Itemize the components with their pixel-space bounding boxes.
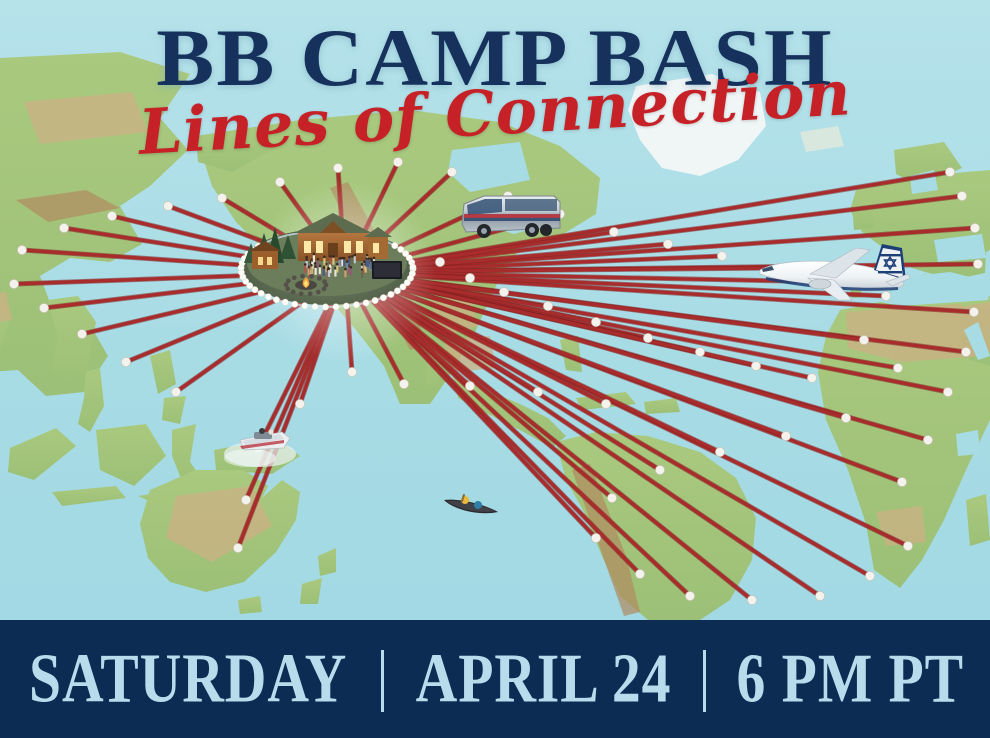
- connection-endpoint: [865, 571, 874, 580]
- connection-endpoint: [903, 541, 912, 550]
- seated-camper: [316, 290, 321, 295]
- connection-endpoint: [607, 493, 616, 502]
- island-pearl: [282, 299, 288, 305]
- connection-endpoint: [945, 167, 954, 176]
- coach-bus: [458, 190, 566, 244]
- connection-endpoint: [399, 379, 408, 388]
- connection-endpoint: [217, 193, 226, 202]
- connection-endpoint: [591, 533, 600, 542]
- banner-separator-2: [703, 650, 706, 712]
- seated-camper: [322, 279, 327, 284]
- connection-endpoint: [635, 569, 644, 578]
- connection-endpoint: [970, 223, 979, 232]
- connection-endpoint: [17, 245, 26, 254]
- camper: [323, 266, 326, 276]
- camper: [365, 257, 368, 267]
- connection-endpoint: [275, 177, 284, 186]
- connection-endpoint: [499, 287, 508, 296]
- event-details-inner: SATURDAY APRIL 24 6 PM PT: [0, 648, 990, 710]
- connection-endpoint: [393, 157, 402, 166]
- connection-endpoint: [333, 163, 342, 172]
- seated-camper: [300, 274, 305, 279]
- island-pearl: [333, 304, 339, 310]
- bus-red-stripe: [464, 214, 560, 218]
- camper: [348, 256, 351, 266]
- island-pearl: [400, 284, 406, 290]
- connection-endpoint: [465, 381, 474, 390]
- connection-endpoint: [447, 167, 456, 176]
- connection-endpoint: [643, 333, 652, 342]
- event-time: 6 PM PT: [737, 644, 965, 713]
- victoria-lake: [956, 430, 980, 456]
- connection-endpoint: [695, 347, 704, 356]
- connection-endpoint: [77, 329, 86, 338]
- connection-endpoint: [841, 413, 850, 422]
- island-pearl: [273, 297, 279, 303]
- connection-endpoint: [751, 361, 760, 370]
- canoe: [440, 484, 502, 520]
- island-pearl: [410, 264, 416, 270]
- camper: [313, 253, 316, 263]
- connection-endpoint: [859, 335, 868, 344]
- connection-endpoint: [171, 387, 180, 396]
- airplane: [752, 244, 910, 314]
- connection-endpoint: [923, 435, 932, 444]
- bus-wheel-rear-2: [540, 224, 552, 236]
- connection-endpoint: [347, 367, 356, 376]
- connection-endpoint: [435, 257, 444, 266]
- connection-endpoint: [715, 447, 724, 456]
- canoe-paddler-back: [474, 501, 482, 509]
- connection-endpoint: [465, 273, 474, 282]
- seated-camper: [292, 275, 297, 280]
- camper: [323, 255, 326, 265]
- connection-endpoint: [897, 477, 906, 486]
- connection-endpoint: [9, 279, 18, 288]
- connection-endpoint: [973, 259, 982, 268]
- camper: [328, 267, 331, 277]
- connection-endpoint: [59, 223, 68, 232]
- camper: [304, 263, 307, 273]
- camper: [353, 254, 356, 264]
- connection-endpoint: [121, 357, 130, 366]
- island-pearl: [292, 301, 298, 307]
- island-pearl: [312, 303, 318, 309]
- camper: [351, 255, 354, 265]
- event-day: SATURDAY: [29, 644, 347, 713]
- connection-endpoint: [601, 399, 610, 408]
- bus-blue-stripe: [464, 218, 560, 221]
- seated-camper: [322, 287, 327, 292]
- connection-endpoint: [747, 595, 756, 604]
- connection-endpoint: [943, 387, 952, 396]
- boat-driver: [259, 428, 265, 434]
- connection-endpoint: [663, 239, 672, 248]
- seated-camper: [299, 291, 304, 296]
- boat-passenger: [268, 429, 273, 434]
- connection-endpoint: [295, 399, 304, 408]
- connection-endpoint: [957, 191, 966, 200]
- connection-endpoint: [241, 495, 250, 504]
- camper: [332, 255, 335, 265]
- island-pearl: [265, 294, 271, 300]
- plane-engine: [809, 279, 831, 289]
- island-pearl: [380, 294, 386, 300]
- connection-endpoint: [815, 591, 824, 600]
- event-date: APRIL 24: [416, 644, 672, 713]
- connection-endpoint: [655, 465, 664, 474]
- camper: [339, 257, 342, 267]
- speedboat: [220, 410, 304, 472]
- camper: [317, 258, 320, 268]
- island-pearl: [343, 303, 349, 309]
- connection-endpoint: [163, 201, 172, 210]
- seated-camper: [309, 274, 314, 279]
- seated-camper: [317, 276, 322, 281]
- camper: [336, 263, 339, 273]
- stage-screen: [372, 261, 402, 279]
- connection-endpoint: [107, 211, 116, 220]
- island-pearl: [363, 300, 369, 306]
- camper: [361, 268, 364, 278]
- connection-endpoint: [609, 227, 618, 236]
- poster-canvas: BB CAMP BASH Lines of Connection SATURDA…: [0, 0, 990, 738]
- banner-separator-1: [381, 650, 384, 712]
- main-lodge: [294, 213, 392, 261]
- island-pearl: [394, 288, 400, 294]
- camp-island: [232, 193, 422, 311]
- connection-endpoint: [591, 317, 600, 326]
- connection-endpoint: [781, 431, 790, 440]
- seated-camper: [308, 291, 313, 296]
- connection-endpoint: [969, 307, 978, 316]
- island-pearl: [258, 290, 264, 296]
- connection-endpoint: [533, 387, 542, 396]
- connection-endpoint: [233, 543, 242, 552]
- connection-endpoint: [717, 251, 726, 260]
- seated-camper: [291, 289, 296, 294]
- camper: [343, 257, 346, 267]
- island-pearl: [322, 304, 328, 310]
- camper: [350, 266, 353, 276]
- bus-windows: [505, 199, 557, 211]
- island-pearl: [372, 297, 378, 303]
- camper: [344, 268, 347, 278]
- island-pearl: [388, 291, 394, 297]
- connection-endpoint: [685, 591, 694, 600]
- camper: [314, 265, 317, 275]
- connection-endpoint: [543, 301, 552, 310]
- camper: [310, 264, 313, 274]
- connection-endpoint: [807, 373, 816, 382]
- island-pearl: [392, 242, 398, 248]
- island-pearl: [353, 302, 359, 308]
- island-pearl: [302, 303, 308, 309]
- connection-endpoint: [961, 347, 970, 356]
- connection-endpoint: [893, 363, 902, 372]
- madagascar: [966, 494, 990, 546]
- connection-endpoint: [39, 303, 48, 312]
- camper: [329, 255, 332, 265]
- island-pearl: [252, 286, 258, 292]
- seated-camper: [286, 278, 291, 283]
- event-details-banner: SATURDAY APRIL 24 6 PM PT: [0, 620, 990, 738]
